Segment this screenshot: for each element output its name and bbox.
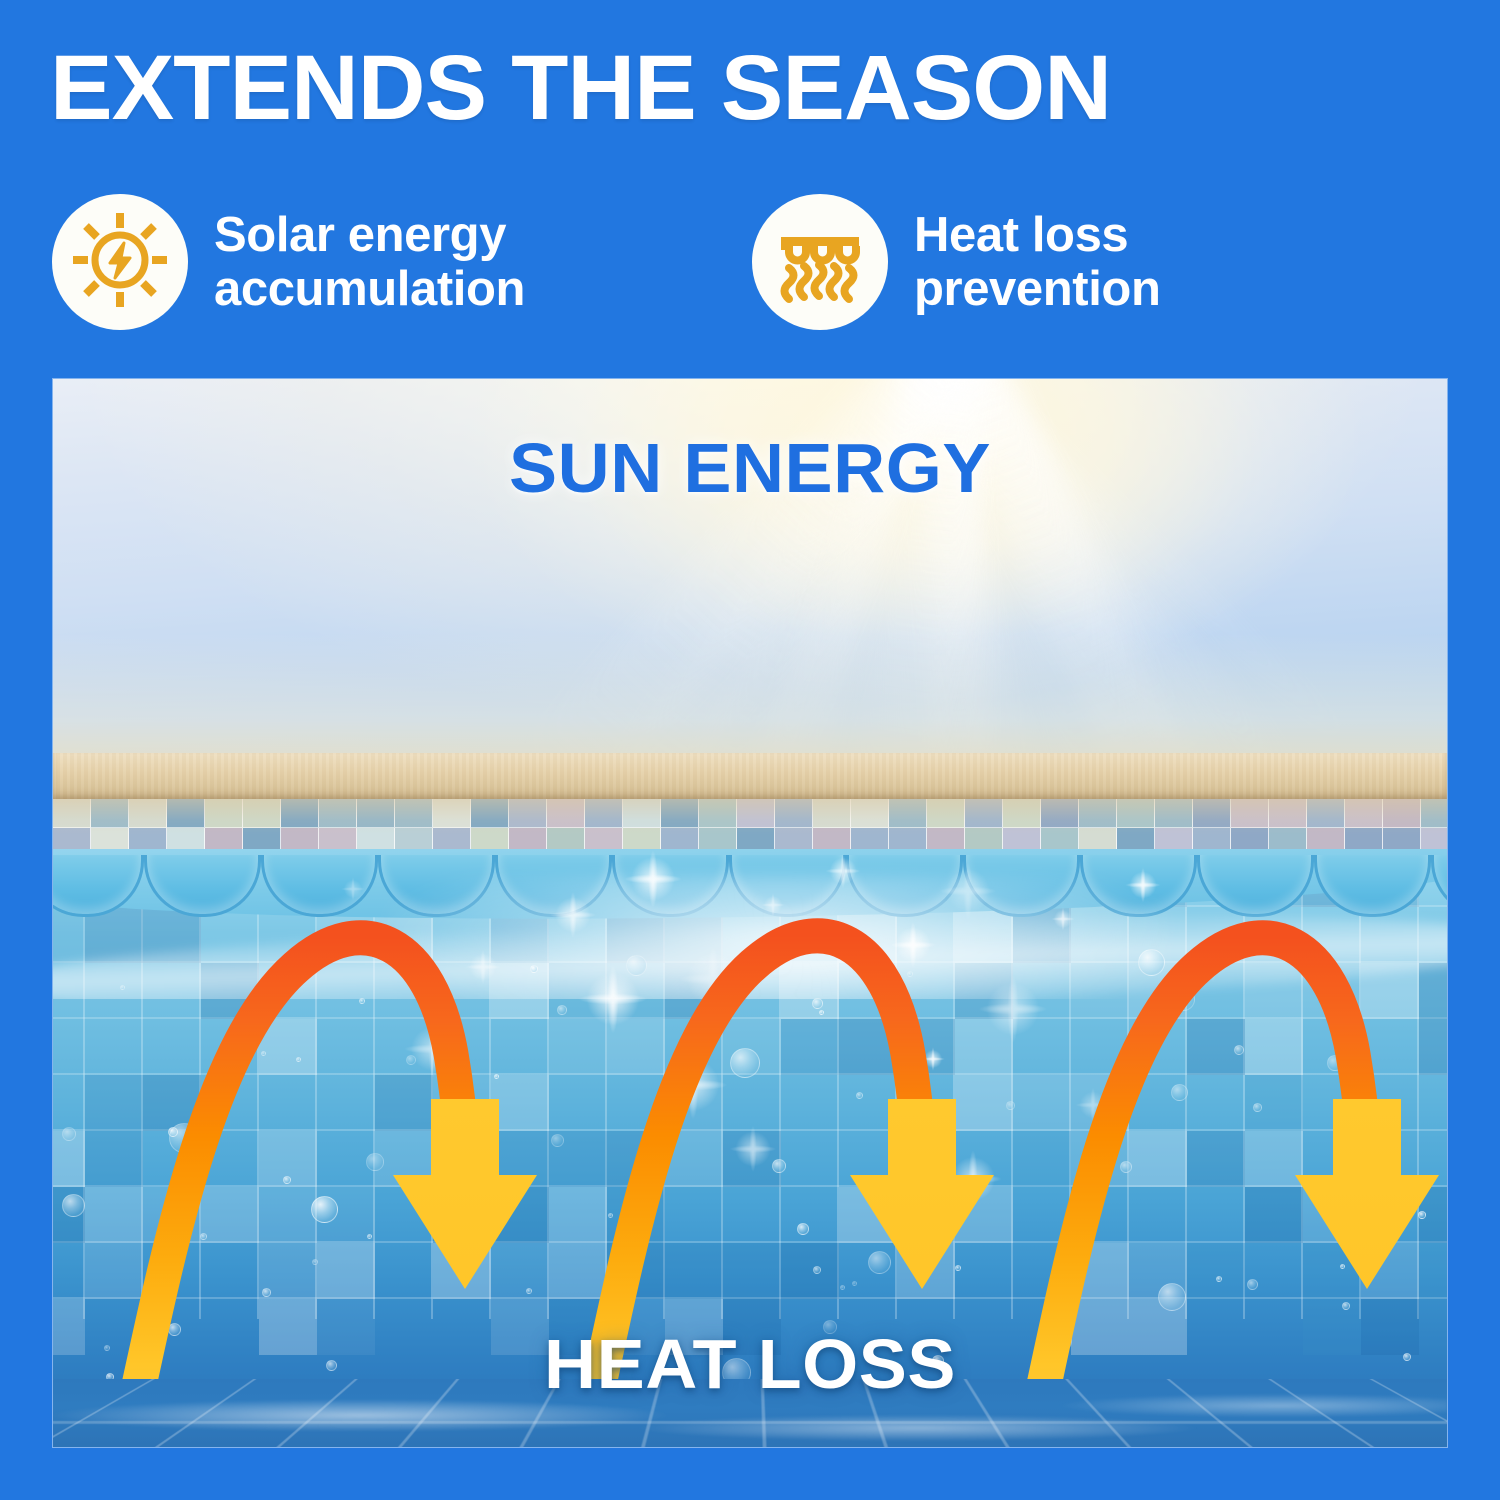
underwater-tile <box>491 1075 549 1131</box>
cover-bubble <box>1314 855 1431 917</box>
underwater-tile <box>1419 1019 1447 1075</box>
mosaic-tile <box>1383 799 1421 828</box>
mosaic-tile <box>1193 799 1231 828</box>
mosaic-tile <box>129 799 167 828</box>
underwater-tile <box>549 1187 607 1243</box>
feature-solar-energy-label: Solar energy accumulation <box>214 208 525 316</box>
cover-bubble <box>261 855 378 917</box>
feature-label-line-2: accumulation <box>214 262 525 316</box>
underwater-tile <box>317 1187 375 1243</box>
solar-energy-icon <box>68 208 172 317</box>
underwater-tile <box>839 1187 897 1243</box>
underwater-tile <box>955 1075 1013 1131</box>
mosaic-tile <box>737 799 775 828</box>
underwater-tile <box>1303 1243 1361 1299</box>
underwater-tile <box>1419 1187 1447 1243</box>
underwater-tile <box>665 1075 723 1131</box>
cover-bubble <box>144 855 261 917</box>
water-surface <box>53 849 1447 999</box>
underwater-tile <box>1129 1131 1187 1187</box>
underwater-tile <box>897 1019 955 1075</box>
mosaic-tile <box>1269 799 1307 828</box>
mosaic-tile <box>1345 799 1383 828</box>
underwater-tile <box>491 1243 549 1299</box>
underwater-tile <box>491 1131 549 1187</box>
mosaic-tile <box>623 799 661 828</box>
mosaic-tile <box>585 799 623 828</box>
underwater-tile <box>781 1019 839 1075</box>
underwater-tile <box>1361 1243 1419 1299</box>
mosaic-tile <box>91 799 129 828</box>
underwater-tile <box>1013 1131 1071 1187</box>
mosaic-tile <box>1079 799 1117 828</box>
underwater-tile <box>897 1131 955 1187</box>
feature-list: Solar energy accumulation <box>52 182 1448 342</box>
mosaic-tile <box>661 799 699 828</box>
underwater-tile <box>317 1243 375 1299</box>
cover-bubble <box>53 855 144 917</box>
underwater-tile <box>1187 1131 1245 1187</box>
mosaic-tile <box>205 799 243 828</box>
mosaic-tile <box>965 799 1003 828</box>
underwater-tile <box>897 1243 955 1299</box>
underwater-tile <box>53 1131 85 1187</box>
underwater-tile <box>549 1243 607 1299</box>
underwater-tile <box>1303 1187 1361 1243</box>
underwater-tile <box>607 1019 665 1075</box>
underwater-tile <box>1187 1243 1245 1299</box>
underwater-tile <box>897 1187 955 1243</box>
pool-coping-edge <box>53 753 1447 799</box>
underwater-tile <box>491 1187 549 1243</box>
underwater-tile <box>607 1131 665 1187</box>
mosaic-tile <box>243 799 281 828</box>
underwater-tile <box>433 1187 491 1243</box>
cover-bubble <box>1197 855 1314 917</box>
underwater-tile <box>1013 1075 1071 1131</box>
mosaic-tile <box>1307 799 1345 828</box>
mosaic-tile <box>1421 799 1447 828</box>
mosaic-tile <box>395 799 433 828</box>
underwater-tile <box>259 1243 317 1299</box>
underwater-tile <box>1245 1131 1303 1187</box>
mosaic-tile <box>889 799 927 828</box>
underwater-tile <box>259 1187 317 1243</box>
page-title: EXTENDS THE SEASON <box>50 42 1482 134</box>
underwater-tile <box>665 1131 723 1187</box>
mosaic-tile <box>927 799 965 828</box>
feature-label-line-2: prevention <box>914 262 1160 316</box>
underwater-tile <box>375 1131 433 1187</box>
underwater-tile <box>433 1075 491 1131</box>
underwater-tile <box>607 1187 665 1243</box>
underwater-tile <box>549 1019 607 1075</box>
underwater-tile <box>259 1131 317 1187</box>
underwater-tile <box>723 1131 781 1187</box>
mosaic-tile <box>471 799 509 828</box>
surface-sun-glow <box>388 875 1169 999</box>
mosaic-tile <box>1003 799 1041 828</box>
underwater-tile <box>549 1131 607 1187</box>
feature-heat-loss-prevention: Heat loss prevention <box>752 182 1448 342</box>
underwater-tile <box>665 1243 723 1299</box>
underwater-tile <box>1071 1075 1129 1131</box>
underwater-tile <box>201 1187 259 1243</box>
mosaic-tile <box>775 799 813 828</box>
mosaic-tile <box>53 799 91 828</box>
feature-solar-energy: Solar energy accumulation <box>52 182 752 342</box>
mosaic-tile <box>319 799 357 828</box>
feature-label-line-1: Solar energy <box>214 208 525 262</box>
cover-bubble <box>1431 855 1447 917</box>
sun-energy-label: SUN ENERGY <box>52 433 1448 503</box>
underwater-tile <box>53 1187 85 1243</box>
underwater-tile <box>1245 1187 1303 1243</box>
mosaic-tile <box>1231 799 1269 828</box>
underwater-tile <box>85 1131 143 1187</box>
underwater-tile <box>433 1243 491 1299</box>
pool-diagram-photo: SUN ENERGY <box>52 378 1448 1448</box>
mosaic-tile <box>167 799 205 828</box>
sky-horizon-glow <box>53 633 1447 753</box>
underwater-tile <box>839 1019 897 1075</box>
mosaic-tile <box>851 799 889 828</box>
underwater-tile <box>85 1075 143 1131</box>
tile-row-upper <box>53 799 1447 828</box>
feature-heat-loss-label: Heat loss prevention <box>914 208 1160 316</box>
underwater-tile <box>723 1243 781 1299</box>
mosaic-tile <box>433 799 471 828</box>
mosaic-tile <box>281 799 319 828</box>
underwater-tile <box>955 1187 1013 1243</box>
heat-loss-prevention-icon-badge <box>752 194 888 330</box>
underwater-tile <box>1245 1019 1303 1075</box>
mosaic-tile <box>813 799 851 828</box>
underwater-tile <box>85 1243 143 1299</box>
mosaic-tile <box>1041 799 1079 828</box>
mosaic-tile <box>1155 799 1193 828</box>
solar-energy-icon-badge <box>52 194 188 330</box>
underwater-tile <box>1419 1243 1447 1299</box>
underwater-tile <box>375 1075 433 1131</box>
underwater-tile <box>1129 1243 1187 1299</box>
underwater-tile <box>259 1019 317 1075</box>
underwater-tile <box>1071 1131 1129 1187</box>
mosaic-tile <box>357 799 395 828</box>
underwater-tile <box>1187 1019 1245 1075</box>
heat-loss-prevention-icon <box>768 208 872 317</box>
underwater-tile <box>85 1187 143 1243</box>
mosaic-tile <box>509 799 547 828</box>
feature-label-line-1: Heat loss <box>914 208 1160 262</box>
underwater-tile <box>955 1019 1013 1075</box>
heat-loss-label: HEAT LOSS <box>52 1329 1448 1399</box>
underwater-tile <box>1245 1075 1303 1131</box>
underwater-tile <box>143 1075 201 1131</box>
underwater-tile <box>143 1187 201 1243</box>
mosaic-tile <box>547 799 585 828</box>
underwater-tile <box>1071 1243 1129 1299</box>
mosaic-tile <box>699 799 737 828</box>
underwater-tile <box>781 1243 839 1299</box>
underwater-tile <box>723 1019 781 1075</box>
underwater-tile <box>607 1243 665 1299</box>
mosaic-tile <box>1117 799 1155 828</box>
